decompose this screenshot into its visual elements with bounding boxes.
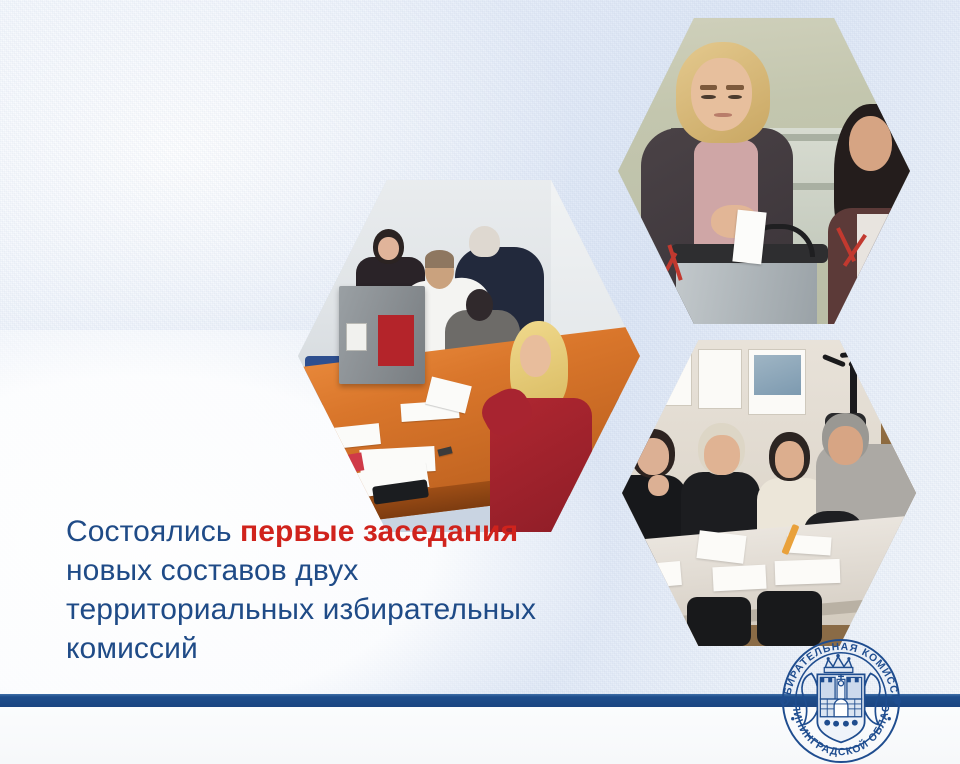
photo-meeting-table: Члены комиссии за оранжевым столом с пер… — [298, 180, 640, 532]
headline-line-3: территориальных избирательных — [66, 590, 646, 629]
headline-line-4: комиссий — [66, 629, 646, 668]
photo-ballot-casting: Женщина в тёмном пиджаке опускает бюллет… — [618, 18, 910, 324]
headline-prefix: Состоялись — [66, 515, 240, 548]
headline-line-2: новых составов двух — [66, 551, 646, 590]
headline-accent: первые заседания — [240, 515, 518, 548]
page-title: Состоялись первые заседания новых состав… — [66, 512, 646, 668]
headline-line-1: Состоялись первые заседания — [66, 512, 646, 551]
announcement-poster: Члены комиссии за оранжевым столом с пер… — [0, 0, 960, 764]
election-commission-seal-icon: ИЗБИРАТЕЛЬНАЯ КОМИССИЯ КАЛИНИНГРАДСКОЙ О… — [772, 638, 910, 764]
photo-commission-session: Четверо членов комиссии за столом изучаю… — [622, 340, 916, 646]
